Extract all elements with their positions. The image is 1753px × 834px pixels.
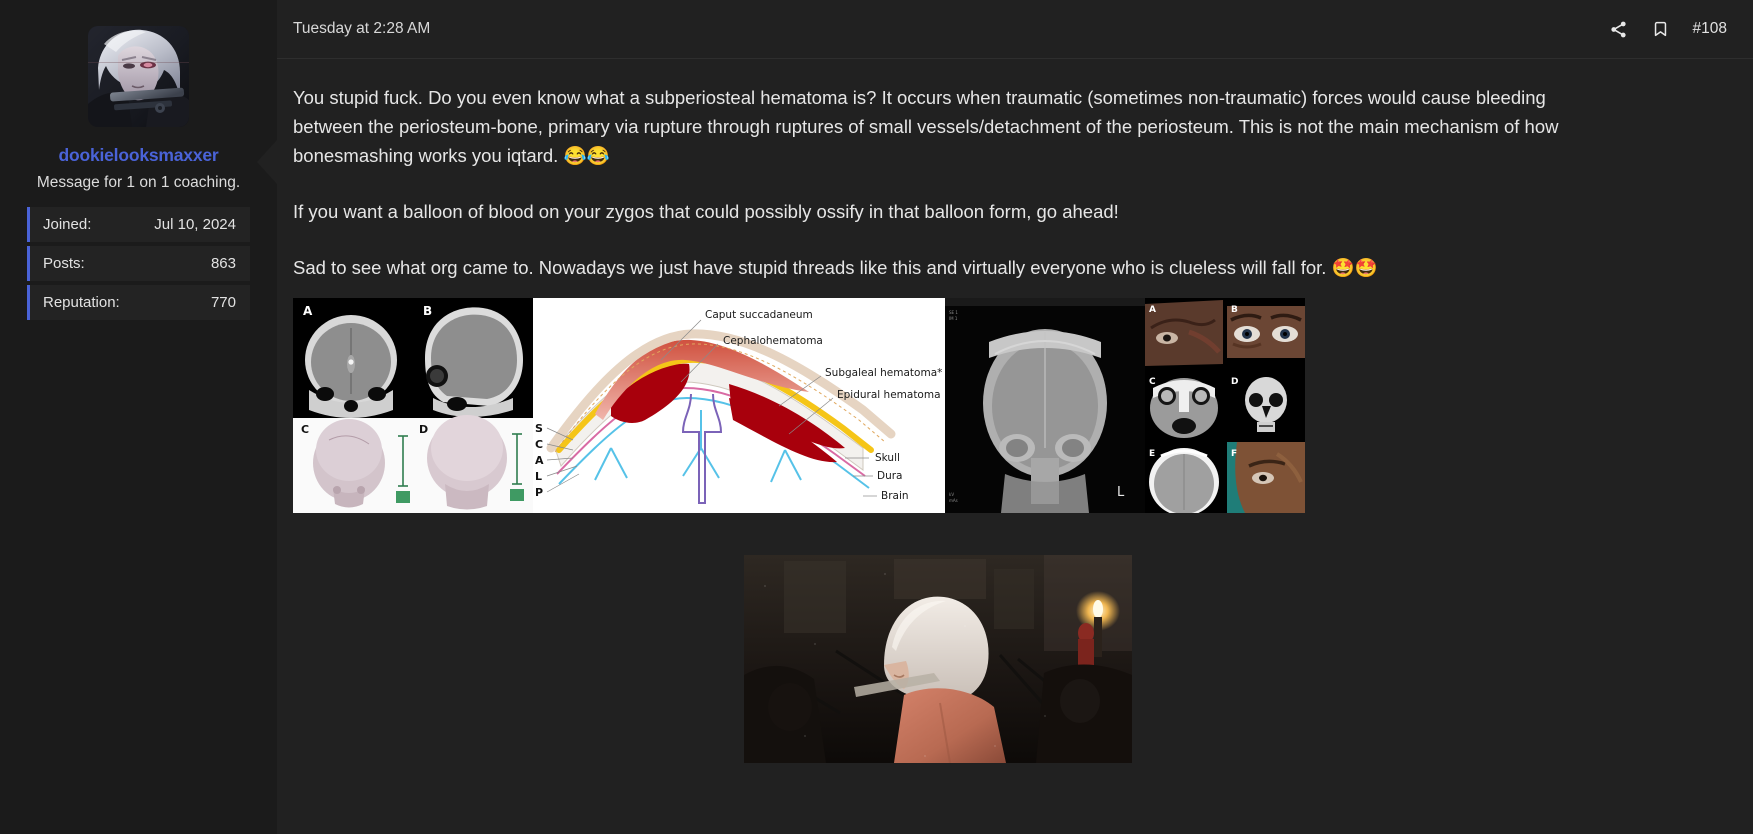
stat-label: Reputation: [43, 294, 120, 311]
ct-quad-panel: A B [293, 298, 533, 513]
svg-text:C: C [301, 423, 309, 436]
attachment-gif[interactable] [744, 555, 1132, 763]
diagram-label-subgaleal: Subgaleal hematoma* [825, 367, 942, 379]
clinical-photo-grid: A [1145, 298, 1305, 513]
svg-text:L: L [535, 470, 542, 483]
author-stats: Joined: Jul 10, 2024 Posts: 863 Reputati… [27, 207, 250, 324]
stat-row-posts: Posts: 863 [27, 246, 250, 281]
xray-side-marker: L [1117, 485, 1125, 500]
svg-text:D: D [419, 423, 428, 436]
post-paragraph-2: If you want a balloon of blood on your z… [293, 197, 1583, 226]
diagram-label-brain: Brain [881, 490, 909, 502]
svg-text:A: A [1149, 305, 1156, 315]
stat-row-joined: Joined: Jul 10, 2024 [27, 207, 250, 242]
post-header: Tuesday at 2:28 AM #108 [277, 0, 1753, 59]
skull-xray-panel: L SE 1 IM 1 kV mAs [945, 298, 1145, 513]
post-pointer-arrow [257, 140, 277, 184]
stat-label: Posts: [43, 255, 85, 272]
svg-text:P: P [535, 486, 543, 499]
bookmark-icon[interactable] [1651, 19, 1671, 39]
diagram-label-skull: Skull [875, 452, 900, 464]
stat-row-reputation: Reputation: 770 [27, 285, 250, 320]
diagram-label-cephalohematoma: Cephalohematoma [723, 335, 823, 347]
svg-text:C: C [535, 438, 543, 451]
forum-post-page: dookielooksmaxxer Message for 1 on 1 coa… [0, 0, 1753, 834]
post-timestamp[interactable]: Tuesday at 2:28 AM [293, 20, 430, 38]
svg-text:E: E [1149, 449, 1155, 459]
skull-xray-image: L SE 1 IM 1 kV mAs [945, 298, 1145, 513]
svg-text:S: S [535, 422, 543, 435]
diagram-label-epidural: Epidural hematoma [837, 389, 941, 401]
avatar-image [88, 26, 189, 127]
share-icon[interactable] [1609, 19, 1629, 39]
post-number-link[interactable]: #108 [1693, 20, 1727, 38]
diagram-label-caput: Caput succadaneum [705, 309, 813, 321]
author-username[interactable]: dookielooksmaxxer [58, 146, 218, 165]
author-title: Message for 1 on 1 coaching. [37, 174, 240, 193]
attachment-gif-wrapper [293, 555, 1583, 763]
stat-value: 863 [211, 255, 236, 272]
post-header-actions: #108 [1609, 19, 1727, 39]
attachment-gif-image [744, 555, 1132, 763]
svg-text:A: A [535, 454, 544, 467]
attachment-medical-collage[interactable]: A B [293, 298, 1305, 513]
svg-text:SE 1: SE 1 [949, 310, 958, 315]
scalp-hematoma-diagram: S C A L P [533, 298, 945, 513]
ct-quad-image: A B [293, 298, 533, 513]
stat-label: Joined: [43, 216, 91, 233]
post-paragraph-1: You stupid fuck. Do you even know what a… [293, 83, 1583, 170]
svg-text:mAs: mAs [949, 498, 958, 503]
stat-value: 770 [211, 294, 236, 311]
svg-text:IM 1: IM 1 [949, 316, 958, 321]
svg-text:B: B [1231, 305, 1238, 315]
stat-value: Jul 10, 2024 [154, 216, 236, 233]
svg-text:kV: kV [949, 492, 954, 497]
diagram-label-dura: Dura [877, 470, 903, 482]
clinical-photo-grid-image: A [1145, 298, 1305, 513]
avatar[interactable] [88, 26, 189, 127]
post-author-sidebar: dookielooksmaxxer Message for 1 on 1 coa… [0, 0, 277, 834]
post-body: You stupid fuck. Do you even know what a… [277, 59, 1753, 834]
svg-text:D: D [1231, 377, 1238, 387]
svg-text:F: F [1231, 449, 1237, 459]
post-paragraph-3: Sad to see what org came to. Nowadays we… [293, 253, 1583, 282]
svg-text:A: A [303, 304, 313, 318]
svg-text:C: C [1149, 377, 1156, 387]
svg-text:B: B [423, 304, 432, 318]
post-container: Tuesday at 2:28 AM #108 [277, 0, 1753, 834]
scalp-hematoma-diagram-image: S C A L P [533, 298, 945, 513]
